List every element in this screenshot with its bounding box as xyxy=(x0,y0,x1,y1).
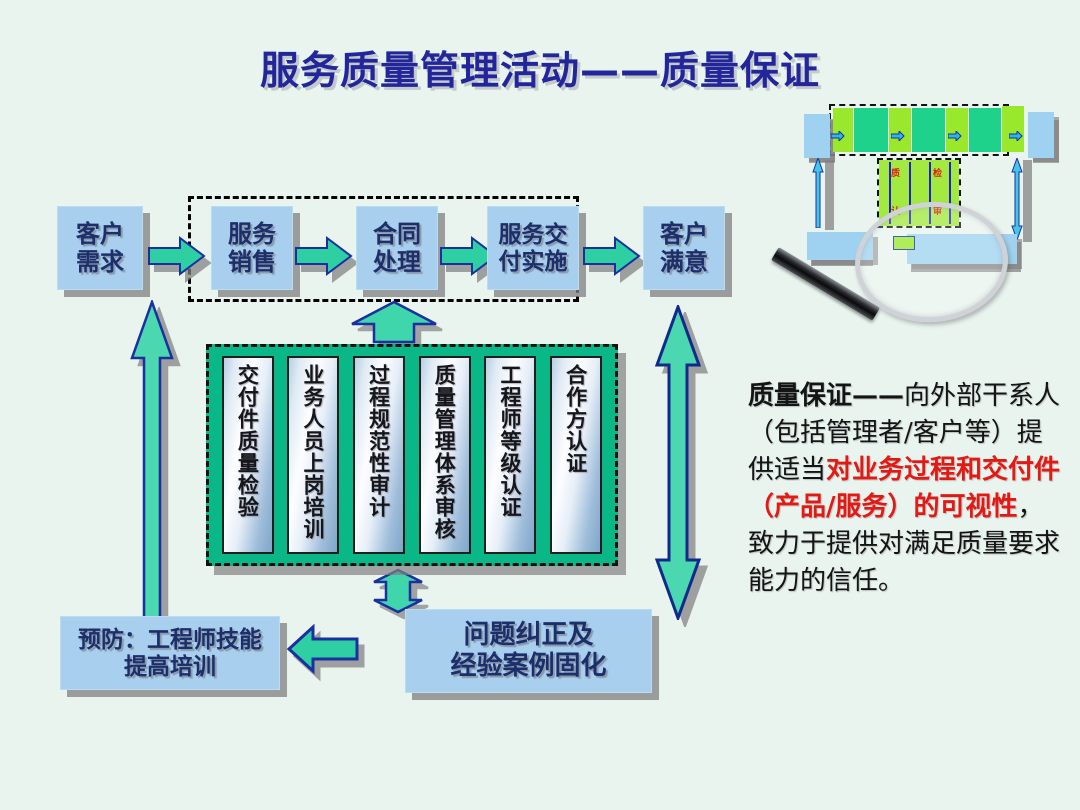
flow-step-service-delivery[interactable]: 服务交 付实施 xyxy=(487,206,579,290)
arrow-right-icon xyxy=(891,128,905,146)
definition-lead: 质量保证—— xyxy=(748,381,904,411)
flow-step-contract-handling[interactable]: 合同 处理 xyxy=(356,206,438,290)
correction-label: 问题纠正及 经验案例固化 xyxy=(450,620,606,681)
quality-activities-container: 交付件质量检验 业务人员上岗培训 过程规范性审计 质量管理体系审核 工程师等级认… xyxy=(206,344,618,566)
thumb-box-delivery xyxy=(969,108,1001,152)
thumb-box-customer-satisfied xyxy=(1028,112,1054,158)
flow-step-label: 客户 满意 xyxy=(660,220,708,277)
activity-column-qms-audit[interactable]: 质量管理体系审核 xyxy=(419,356,471,554)
thumb-red-text: 质 xyxy=(891,166,900,179)
thumb-box-customer-demand xyxy=(804,114,830,158)
arrow-right-icon xyxy=(583,236,641,276)
prevention-training-box[interactable]: 预防：工程师技能 提高培训 xyxy=(60,616,280,690)
thumb-box-contract xyxy=(912,108,945,152)
prevention-label: 预防：工程师技能 提高培训 xyxy=(78,626,262,680)
activity-label: 工程师等级认证 xyxy=(500,364,521,518)
activity-label: 交付件质量检验 xyxy=(237,364,258,518)
arrow-up-icon xyxy=(812,158,824,233)
flow-step-label: 客户 需求 xyxy=(76,220,124,277)
activity-column-deliverable-quality-check[interactable]: 交付件质量检验 xyxy=(222,356,274,554)
thumb-shadow xyxy=(825,160,834,230)
problem-correction-box[interactable]: 问题纠正及 经验案例固化 xyxy=(405,609,652,693)
activity-label: 合作方认证 xyxy=(566,364,587,474)
activity-column-process-compliance-audit[interactable]: 过程规范性审计 xyxy=(353,356,405,554)
arrow-up-down-icon xyxy=(1011,158,1023,245)
thumb-shadow xyxy=(1023,160,1032,242)
quality-assurance-definition: 质量保证——向外部干系人（包括管理者/客户等）提供适当对业务过程和交付件（产品/… xyxy=(748,378,1068,599)
flow-step-label: 服务交 付实施 xyxy=(499,221,568,275)
activity-label: 业务人员上岗培训 xyxy=(303,364,324,540)
flow-step-label: 服务 销售 xyxy=(228,220,276,277)
flow-step-label: 合同 处理 xyxy=(373,220,421,277)
arrow-right-icon xyxy=(148,236,206,276)
arrow-up-down-icon xyxy=(655,305,701,620)
thumb-box-service-sales xyxy=(854,108,888,152)
arrow-up-icon xyxy=(350,300,438,344)
activity-column-staff-onboarding-training[interactable]: 业务人员上岗培训 xyxy=(287,356,339,554)
page-title: 服务质量管理活动——质量保证 xyxy=(0,40,1080,96)
arrow-right-icon xyxy=(295,236,353,276)
magnified-diagram-thumbnail: 质 检 认 审 xyxy=(783,96,1065,308)
arrow-left-icon xyxy=(287,623,359,675)
activity-label: 质量管理体系审核 xyxy=(434,364,455,540)
flow-step-customer-satisfied[interactable]: 客户 满意 xyxy=(643,206,725,290)
arrow-right-icon xyxy=(831,128,845,146)
flow-step-service-sales[interactable]: 服务 销售 xyxy=(211,206,293,290)
flow-step-customer-demand[interactable]: 客户 需求 xyxy=(57,206,143,290)
activity-label: 过程规范性审计 xyxy=(369,364,390,518)
activity-column-partner-certification[interactable]: 合作方认证 xyxy=(550,356,602,554)
arrow-right-icon xyxy=(1009,128,1023,146)
slide-canvas: 服务质量管理活动——质量保证 客户 需求 服务 销售 合同 处理 服务交 付实施… xyxy=(0,0,1080,810)
arrow-up-down-icon xyxy=(372,568,424,614)
arrow-right-icon xyxy=(948,128,962,146)
thumb-red-text: 检 xyxy=(933,166,942,179)
activity-column-engineer-grade-cert[interactable]: 工程师等级认证 xyxy=(484,356,536,554)
arrow-up-icon xyxy=(130,300,174,620)
